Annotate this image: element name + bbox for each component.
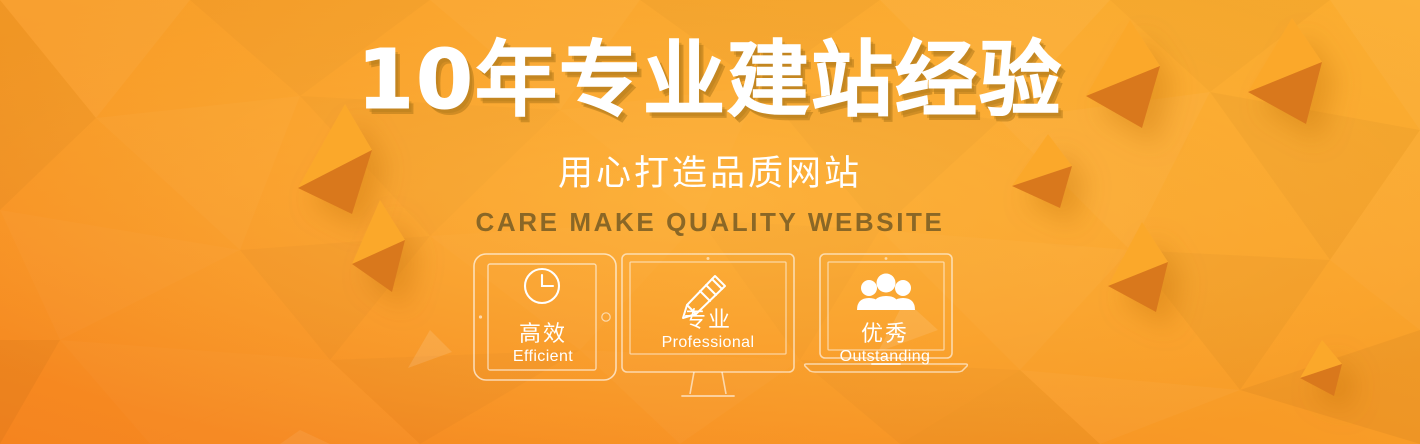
triangle-flat-bottom	[280, 430, 330, 444]
feature-cards: 高效 Efficient 专业	[0, 252, 1420, 412]
page-title: 10年专业建站经验	[0, 0, 1420, 125]
card-professional[interactable]	[620, 252, 796, 404]
laptop-outline-icon	[802, 252, 970, 382]
tablet-outline-icon	[472, 252, 618, 382]
card-outstanding[interactable]	[802, 252, 970, 382]
people-icon	[857, 274, 915, 311]
clock-icon	[525, 269, 559, 303]
pencil-icon	[683, 276, 725, 318]
card-efficient[interactable]	[472, 252, 618, 382]
subtitle-english: CARE MAKE QUALITY WEBSITE	[0, 196, 1420, 238]
monitor-outline-icon	[620, 252, 796, 404]
subtitle-chinese: 用心打造品质网站	[0, 125, 1420, 196]
promo-banner: 10年专业建站经验 用心打造品质网站 CARE MAKE QUALITY WEB…	[0, 0, 1420, 444]
banner-text-block: 10年专业建站经验 用心打造品质网站 CARE MAKE QUALITY WEB…	[0, 0, 1420, 238]
